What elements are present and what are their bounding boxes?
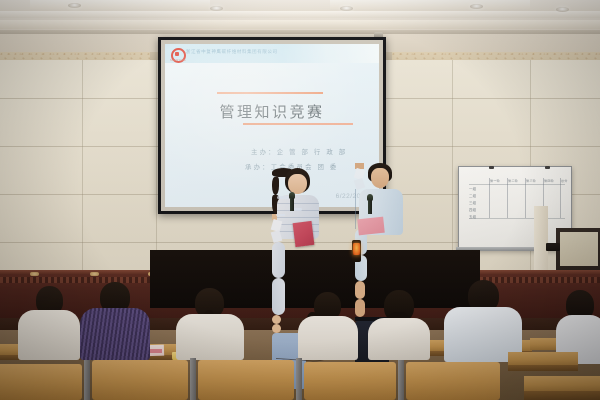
chair-post — [296, 358, 302, 400]
whiteboard-column-header: 第四轮 — [544, 178, 554, 183]
audience-shoulders — [18, 310, 80, 360]
red-folder — [293, 221, 315, 247]
whiteboard-column-header: 第二轮 — [508, 178, 518, 183]
company-logo-mark-icon — [175, 52, 179, 56]
stage-device-indicator-light — [353, 243, 360, 255]
ceiling-downlight — [340, 6, 353, 11]
presenter-male-shirt-placket — [355, 189, 356, 229]
ceiling — [0, 0, 600, 34]
conference-room-photo: 浙江省中复神鹰碳纤维材料集团有限公司 SHENYING 管理知识竞赛 主办：企 … — [0, 0, 600, 400]
slide-company-name: 浙江省中复神鹰碳纤维材料集团有限公司 — [186, 49, 278, 55]
chair-post — [190, 358, 196, 400]
slide-rule-top — [217, 92, 323, 94]
whiteboard-magnet-icon — [545, 166, 550, 169]
whiteboard-row-label: 五组 — [469, 214, 476, 219]
pink-script-sheet — [357, 217, 385, 236]
ceiling-downlight — [470, 4, 483, 9]
chair-back — [406, 362, 500, 400]
wainscot-accent-light — [30, 272, 39, 276]
whiteboard-row-label: 四组 — [469, 207, 476, 212]
chair-back — [198, 360, 294, 400]
slide-organizer-line: 主办：企 管 部 行 政 部 — [251, 147, 347, 156]
right-wall-column — [534, 206, 548, 276]
presenter-female-arm-left — [272, 242, 285, 278]
desk-row-right-front — [524, 376, 600, 392]
slide-title: 管理知识竞赛 — [165, 101, 379, 122]
desk-row-right-edge — [508, 365, 578, 371]
audience-shoulders — [368, 318, 430, 360]
whiteboard-column-header: 第一轮 — [490, 178, 500, 183]
audience-member — [176, 288, 244, 360]
audience-member — [368, 290, 430, 360]
audience-shoulders — [80, 308, 150, 360]
whiteboard-row-label: 二组 — [469, 193, 476, 198]
chair-post — [84, 360, 90, 400]
desk-row-right-front-edge — [524, 391, 600, 400]
whiteboard-row-label: 三组 — [469, 200, 476, 205]
chair-back — [92, 360, 188, 400]
audience-member — [444, 280, 522, 362]
wainscot-accent-light — [90, 272, 99, 276]
ceiling-downlight — [556, 7, 569, 12]
chair-post — [398, 360, 404, 400]
whiteboard-column-header: 总分 — [561, 178, 568, 183]
audience-member — [80, 282, 150, 360]
presenter-male-collar-right — [354, 178, 366, 190]
presenter-female-face — [288, 174, 307, 194]
whiteboard: 第一轮 第二轮 第三轮 第四轮 总分 一组 二组 三组 四组 五组 — [458, 166, 572, 250]
presenter-female-hand-left — [272, 315, 281, 324]
audience-shoulders — [298, 316, 358, 360]
slide-logo-subtext: SHENYING — [170, 59, 186, 62]
presenter-female-arm-right — [272, 278, 285, 315]
ceiling-downlight — [210, 6, 223, 11]
ceiling-downlight — [68, 3, 81, 8]
chair-back — [304, 362, 396, 400]
audience-member — [298, 292, 358, 360]
audience-member — [18, 286, 80, 360]
presenter-male-face — [371, 168, 389, 188]
wall-sconce — [546, 243, 560, 251]
whiteboard-magnet-icon — [489, 166, 494, 169]
presenter-female-hair-left — [272, 177, 279, 195]
whiteboard-row-label: 一组 — [469, 186, 476, 191]
chair-back — [0, 364, 82, 400]
door-glass-panel — [560, 232, 598, 266]
whiteboard-column-header: 第三轮 — [526, 178, 536, 183]
desk-row-right — [508, 352, 578, 366]
slide-rule-bottom — [243, 123, 353, 125]
audience-shoulders — [176, 314, 244, 360]
